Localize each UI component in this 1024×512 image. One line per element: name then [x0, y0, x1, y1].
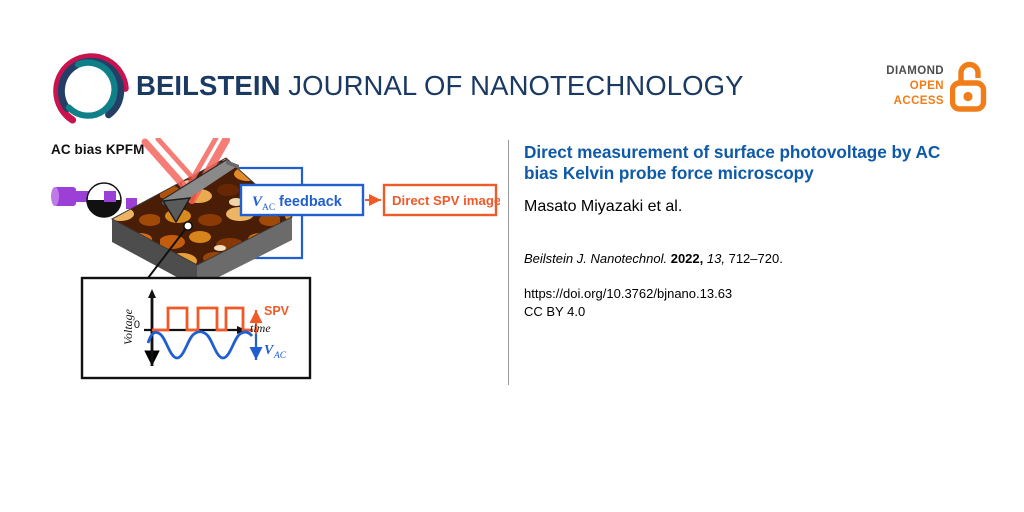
waveform-inset-panel: Voltage 0 SPV time V AC — [82, 278, 310, 378]
citation-year: 2022, — [671, 251, 704, 266]
oa-line-diamond: DIAMOND — [872, 64, 944, 79]
column-divider — [508, 140, 509, 385]
inset-xlabel: time — [250, 321, 271, 335]
open-access-text: DIAMOND OPEN ACCESS — [872, 64, 944, 109]
brand-wordmark: BEILSTEIN JOURNAL OF NANOTECHNOLOGY — [136, 70, 744, 102]
license-label: CC BY 4.0 — [524, 303, 964, 321]
open-access-badge: DIAMOND OPEN ACCESS — [872, 62, 984, 118]
vac-feedback-sub: AC — [262, 203, 275, 213]
vac-feedback-box[interactable]: V AC feedback — [241, 185, 363, 215]
graphical-abstract: AC bias KPFM — [40, 138, 500, 388]
article-title: Direct measurement of surface photovolta… — [524, 142, 964, 183]
oa-line-open: OPEN — [872, 79, 944, 94]
open-padlock-icon — [950, 60, 988, 112]
doi-link[interactable]: https://doi.org/10.3762/bjnano.13.63 — [524, 285, 964, 303]
doi-and-license: https://doi.org/10.3762/bjnano.13.63 CC … — [524, 285, 964, 320]
citation-line: Beilstein J. Nanotechnol. 2022, 13, 712–… — [524, 250, 964, 268]
page-header: BEILSTEIN JOURNAL OF NANOTECHNOLOGY DIAM… — [0, 0, 1024, 130]
optical-chopper-wheel — [87, 183, 121, 217]
citation-pages: 712–720. — [729, 251, 783, 266]
beilstein-swirl-logo — [52, 52, 130, 130]
inset-legend-vac-sub: AC — [273, 351, 287, 361]
direct-spv-image-label: Direct SPV image — [392, 193, 500, 208]
article-info-panel: Direct measurement of surface photovolta… — [524, 142, 964, 320]
vac-feedback-label: feedback — [279, 194, 343, 210]
inset-zero-tick: 0 — [134, 319, 140, 331]
citation-volume: 13, — [707, 251, 725, 266]
citation-journal: Beilstein J. Nanotechnol. — [524, 251, 667, 266]
brand-name-light: JOURNAL OF NANOTECHNOLOGY — [281, 70, 744, 101]
oa-line-access: ACCESS — [872, 94, 944, 109]
inset-legend-spv: SPV — [264, 304, 290, 318]
article-authors: Masato Miyazaki et al. — [524, 197, 964, 216]
graphical-abstract-svg: V AC feedback Direct SPV image Voltage 0 — [40, 138, 500, 388]
direct-spv-image-box[interactable]: Direct SPV image — [384, 185, 500, 215]
brand-name-bold: BEILSTEIN — [136, 70, 281, 101]
